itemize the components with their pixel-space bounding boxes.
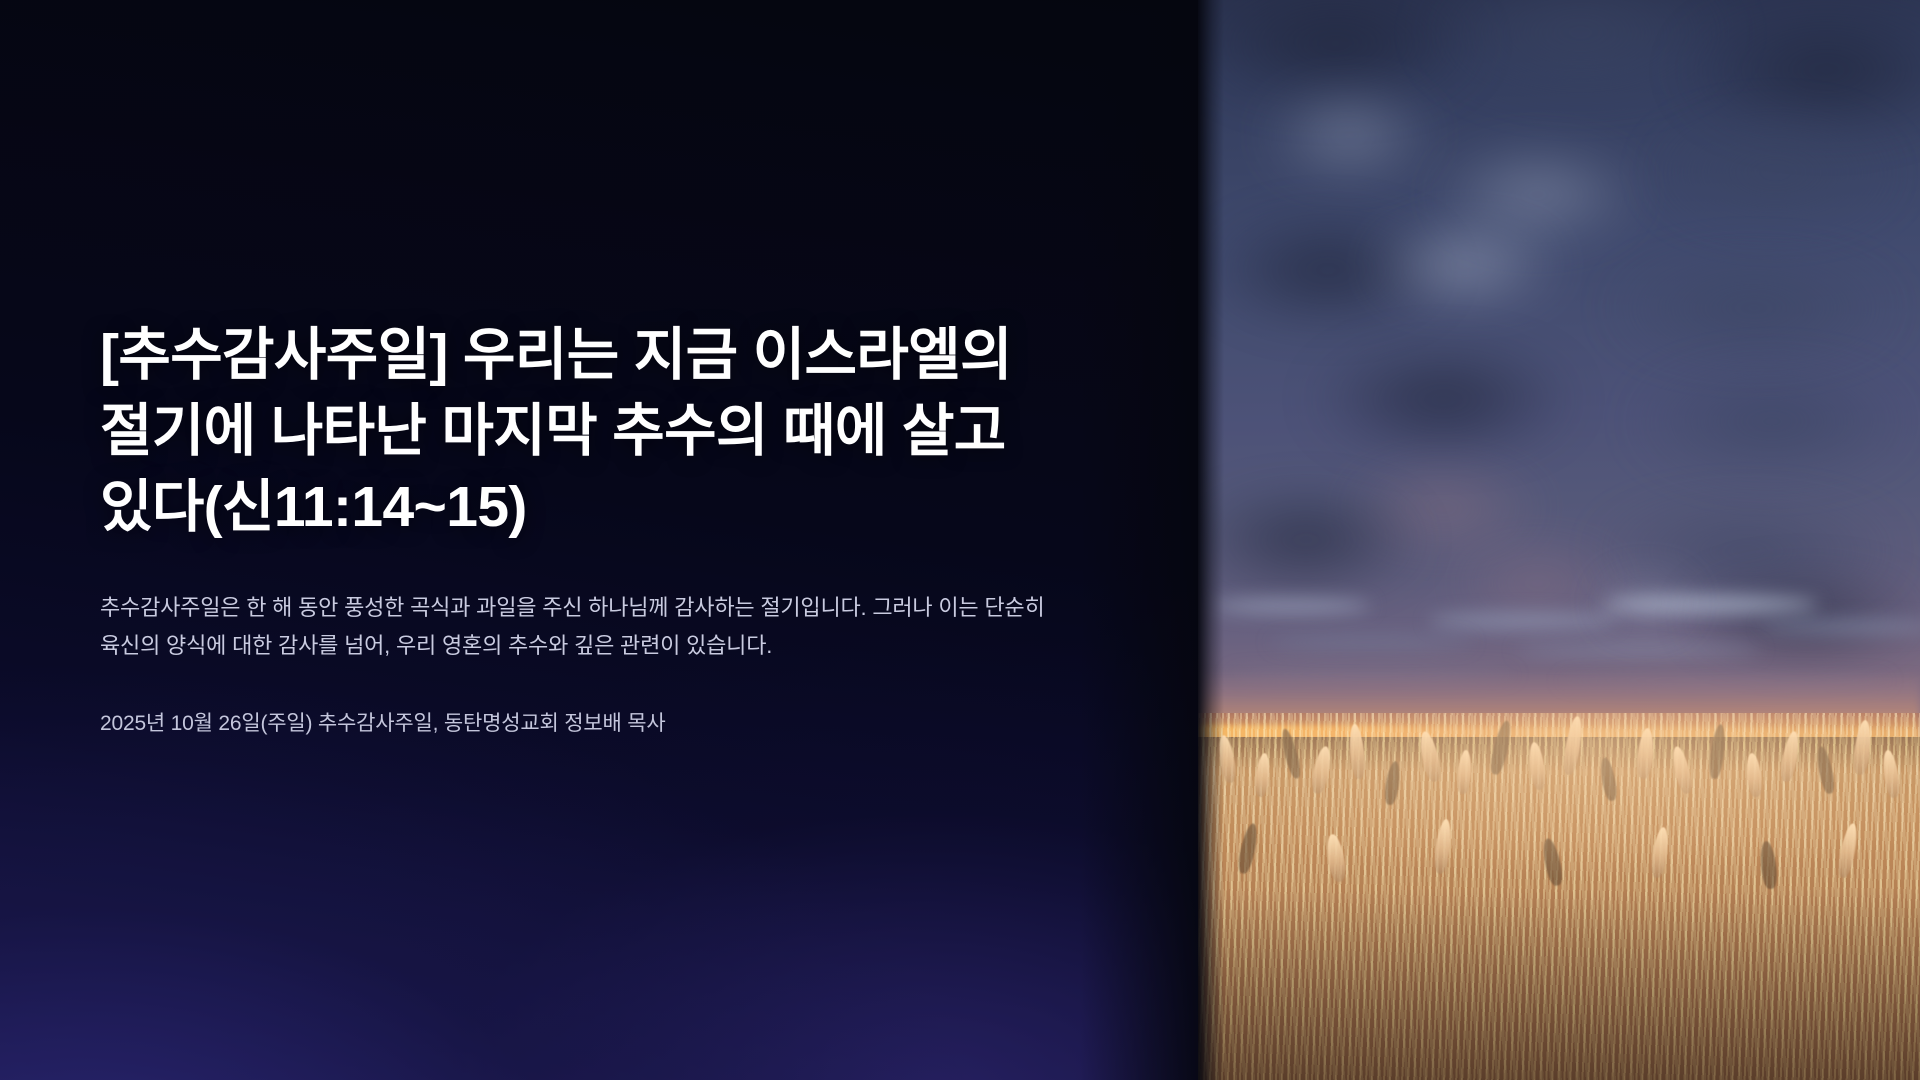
- wheat-stalk: [1835, 822, 1860, 879]
- cloud-shape: [1256, 324, 1631, 475]
- hero-image: [1198, 0, 1920, 1080]
- wheat-stalk: [1216, 734, 1238, 783]
- wheat-stalk: [1814, 745, 1836, 794]
- wheat-stalk: [1324, 833, 1347, 883]
- cloud-streak: [1516, 644, 1761, 656]
- wheat-stalk: [1778, 730, 1800, 783]
- wheat-stalk: [1309, 745, 1333, 795]
- wheat-stalk: [1669, 745, 1693, 795]
- wheat-stalk: [1383, 760, 1402, 805]
- wheat-stalk: [1456, 749, 1472, 794]
- wheat-stalk: [1759, 841, 1779, 890]
- hero-description: 추수감사주일은 한 해 동안 풍성한 곡식과 과일을 주신 하나님께 감사하는 …: [100, 589, 1100, 665]
- wheat-stalk: [1417, 730, 1443, 784]
- wheat-stalk: [1636, 727, 1656, 780]
- wheat-stalk: [1744, 753, 1763, 798]
- wheat-stalk: [1236, 822, 1261, 875]
- hero-slide: [추수감사주일] 우리는 지금 이스라엘의 절기에 나타난 마지막 추수의 때에…: [0, 0, 1920, 1080]
- page-title: [추수감사주일] 우리는 지금 이스라엘의 절기에 나타난 마지막 추수의 때에…: [100, 318, 1085, 545]
- cloud-streak: [1270, 637, 1472, 648]
- wheat-stalk: [1527, 741, 1547, 790]
- cloud-light-break: [1573, 578, 1717, 627]
- hero-content: [추수감사주일] 우리는 지금 이스라엘의 절기에 나타난 마지막 추수의 때에…: [100, 318, 1110, 741]
- wheat-stalk: [1881, 749, 1901, 798]
- wheat-stalk: [1433, 819, 1454, 875]
- wheat-stalk: [1279, 727, 1303, 780]
- wheat-stalk: [1347, 723, 1365, 779]
- wheat-stalk: [1707, 723, 1727, 779]
- wheat-stalk: [1599, 756, 1619, 802]
- wheat-stalk: [1253, 753, 1271, 798]
- wheat-stalk: [1488, 719, 1514, 776]
- wheat-stalk: [1852, 720, 1873, 776]
- cloud-streak: [1761, 620, 1920, 633]
- wheat-stalk: [1562, 716, 1585, 776]
- sermon-meta: 2025년 10월 26일(주일) 추수감사주일, 동탄명성교회 정보배 목사: [100, 707, 1110, 741]
- wheat-field: [1198, 713, 1920, 1080]
- text-panel: [추수감사주일] 우리는 지금 이스라엘의 절기에 나타난 마지막 추수의 때에…: [0, 0, 1200, 1080]
- wheat-stalk: [1540, 837, 1565, 887]
- wheat-stalk: [1649, 826, 1670, 879]
